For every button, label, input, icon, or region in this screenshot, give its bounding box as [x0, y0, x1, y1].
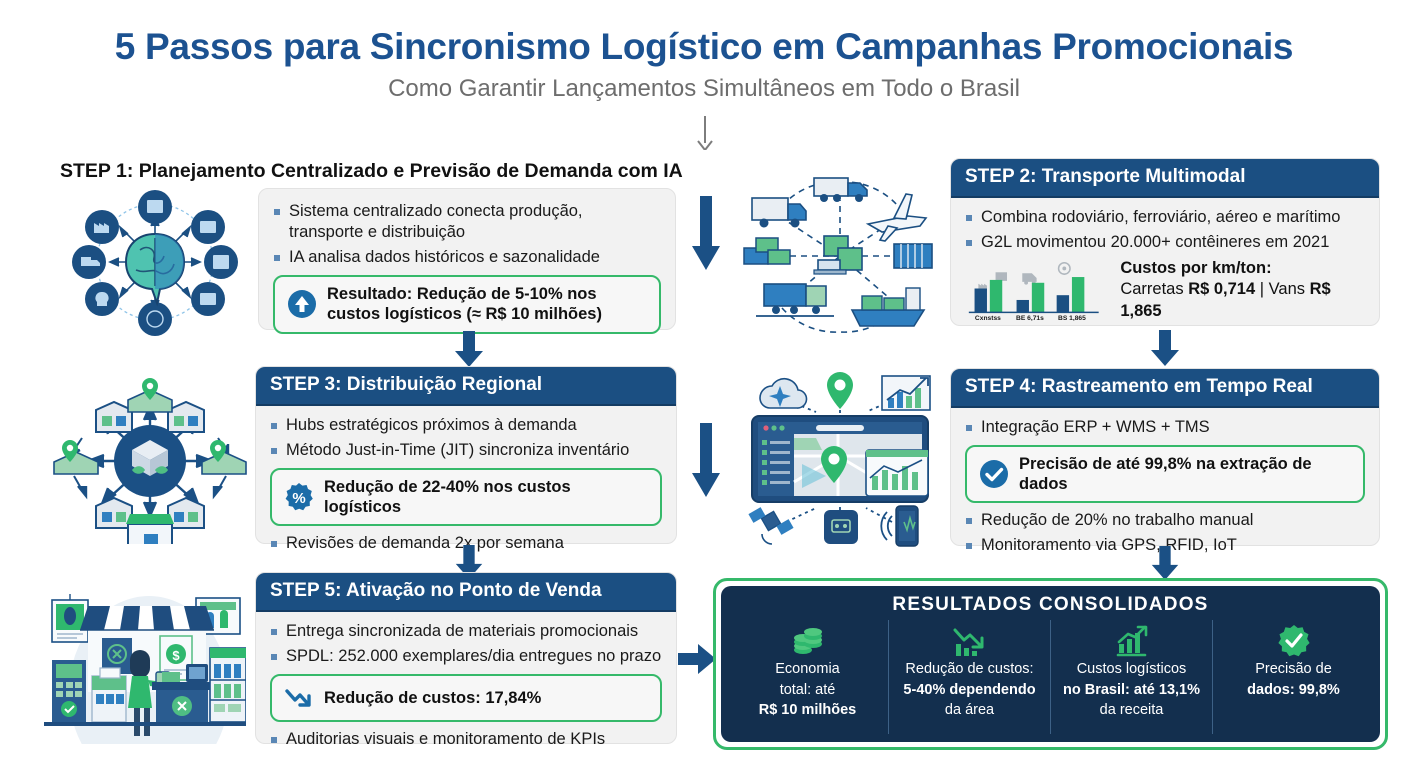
result-line-2: dados: 99,8% [1247, 682, 1340, 698]
result-line-1: Custos logísticos [1077, 661, 1187, 679]
bullet: SPDL: 252.000 exemplares/dia entregues n… [270, 646, 662, 667]
result-line-2: no Brasil: até 13,1% [1063, 682, 1200, 698]
step-1-card: Sistema centralizado conecta produção, t… [258, 188, 676, 330]
step-3-highlight: % Redução de 22-40% nos custos logístico… [270, 468, 662, 526]
result-column-custos: Custos logísticos no Brasil: até 13,1% d… [1051, 620, 1213, 734]
arrow-down-icon [689, 196, 723, 270]
bullet: IA analisa dados históricos e sazonalida… [273, 247, 661, 268]
step-1-label: STEP 1: Planejamento Centralizado e Prev… [60, 160, 683, 183]
bullet: Redução de 20% no trabalho manual [965, 510, 1365, 531]
bar-chart-down-icon [953, 624, 987, 658]
regional-distribution-network-illustration [52, 378, 248, 544]
step-1-highlight: Resultado: Redução de 5-10% nos custos l… [273, 275, 661, 333]
cost-mini-bar-chart: Cxnstss BE 6,71s BS 1,865 [965, 257, 1106, 322]
step-2-card: STEP 2: Transporte Multimodal Combina ro… [950, 158, 1380, 326]
vans-label: Vans [1269, 280, 1305, 298]
bar-chart-up-icon [1115, 624, 1149, 658]
svg-text:%: % [292, 490, 305, 507]
cost-title: Custos por km/ton: [1120, 258, 1365, 279]
arrow-up-circle-icon [287, 289, 317, 319]
svg-text:$: $ [172, 648, 180, 663]
ai-brain-network-illustration [58, 182, 253, 342]
result-column-reducao: Redução de custos: 5-40% dependendo da á… [889, 620, 1051, 734]
result-line-3: R$ 10 milhões [759, 702, 857, 718]
cost-per-km-block: Custos por km/ton: Carretas R$ 0,714 | V… [1120, 258, 1365, 322]
step-5-bullets: Entrega sincronizada de materiais promoc… [270, 621, 662, 667]
result-line-3: da receita [1100, 702, 1164, 720]
coins-stack-icon [791, 624, 825, 658]
step-5-header: STEP 5: Ativação no Ponto de Venda [256, 573, 676, 612]
check-circle-icon [979, 459, 1009, 489]
bullet: Método Just-in-Time (JIT) sincroniza inv… [270, 440, 662, 461]
arrow-down-icon [694, 116, 716, 150]
result-line-1: Economia [775, 661, 839, 679]
step-5-bullets-after: Auditorias visuais e monitoramento de KP… [270, 729, 662, 750]
bullet: Hubs estratégicos próximos à demanda [270, 415, 662, 436]
trend-down-arrow-icon [284, 683, 314, 713]
step-2-header: STEP 2: Transporte Multimodal [951, 159, 1379, 198]
bullet: Entrega sincronizada de materiais promoc… [270, 621, 662, 642]
page-title: 5 Passos para Sincronismo Logístico em C… [0, 26, 1408, 68]
result-line-2: total: até [780, 682, 836, 700]
page-subtitle: Como Garantir Lançamentos Simultâneos em… [0, 75, 1408, 103]
result-line-3: da área [945, 702, 994, 720]
arrow-right-icon [678, 641, 716, 677]
result-column-economia: Economia total: até R$ 10 milhões [727, 620, 889, 734]
result-line-2: 5-40% dependendo [903, 682, 1035, 698]
cost-line: Carretas R$ 0,714 | Vans R$ 1,865 [1120, 279, 1365, 322]
step-4-highlight: Precisão de até 99,8% na extração de dad… [965, 445, 1365, 503]
step-1-bullets: Sistema centralizado conecta produção, t… [273, 201, 661, 268]
step-3-card: STEP 3: Distribuição Regional Hubs estra… [255, 366, 677, 544]
verified-check-icon [1277, 624, 1311, 658]
multimodal-transport-illustration [742, 176, 938, 338]
result-line-1: Redução de custos: [905, 661, 1033, 679]
point-of-sale-store-illustration: $ [44, 572, 246, 744]
infographic-page: 5 Passos para Sincronismo Logístico em C… [0, 0, 1408, 768]
step-5-highlight: Redução de custos: 17,84% [270, 674, 662, 722]
step-1-highlight-text: Resultado: Redução de 5-10% nos custos l… [327, 284, 647, 324]
bullet: Sistema centralizado conecta produção, t… [273, 201, 661, 243]
step-4-bullets: Integração ERP + WMS + TMS [965, 417, 1365, 438]
step-4-highlight-text: Precisão de até 99,8% na extração de dad… [1019, 454, 1351, 494]
step-3-header: STEP 3: Distribuição Regional [256, 367, 676, 406]
arrow-down-icon [452, 331, 486, 367]
svg-text:Cxnstss: Cxnstss [975, 315, 1001, 322]
carretas-value: R$ 0,714 [1188, 280, 1255, 298]
bullet: Integração ERP + WMS + TMS [965, 417, 1365, 438]
results-panel: RESULTADOS CONSOLIDADOS Economia total: … [713, 578, 1388, 750]
arrow-down-icon [689, 422, 723, 498]
step-4-header: STEP 4: Rastreamento em Tempo Real [951, 369, 1379, 408]
arrow-down-icon [1148, 330, 1182, 366]
step-5-card: STEP 5: Ativação no Ponto de Venda Entre… [255, 572, 677, 744]
bullet: Auditorias visuais e monitoramento de KP… [270, 729, 662, 750]
step-3-bullets: Hubs estratégicos próximos à demanda Mét… [270, 415, 662, 461]
svg-text:BS 1,865: BS 1,865 [1058, 315, 1086, 322]
realtime-tracking-dashboard-illustration [742, 372, 938, 550]
bullet: Combina rodoviário, ferroviário, aéreo e… [965, 207, 1365, 228]
step-2-bullets: Combina rodoviário, ferroviário, aéreo e… [965, 207, 1365, 253]
step-5-highlight-text: Redução de custos: 17,84% [324, 688, 541, 708]
percent-badge-icon: % [284, 482, 314, 512]
bullet: G2L movimentou 20.000+ contêineres em 20… [965, 232, 1365, 253]
arrow-down-icon [1148, 546, 1182, 580]
result-line-1: Precisão de [1255, 661, 1332, 679]
cost-separator: | [1260, 280, 1264, 298]
step-4-card: STEP 4: Rastreamento em Tempo Real Integ… [950, 368, 1380, 546]
carretas-label: Carretas [1120, 280, 1183, 298]
svg-text:BE 6,71s: BE 6,71s [1016, 315, 1044, 322]
result-column-precisao: Precisão de dados: 99,8% [1213, 620, 1374, 734]
step-3-highlight-text: Redução de 22-40% nos custos logísticos [324, 477, 648, 517]
results-title: RESULTADOS CONSOLIDADOS [892, 594, 1208, 616]
